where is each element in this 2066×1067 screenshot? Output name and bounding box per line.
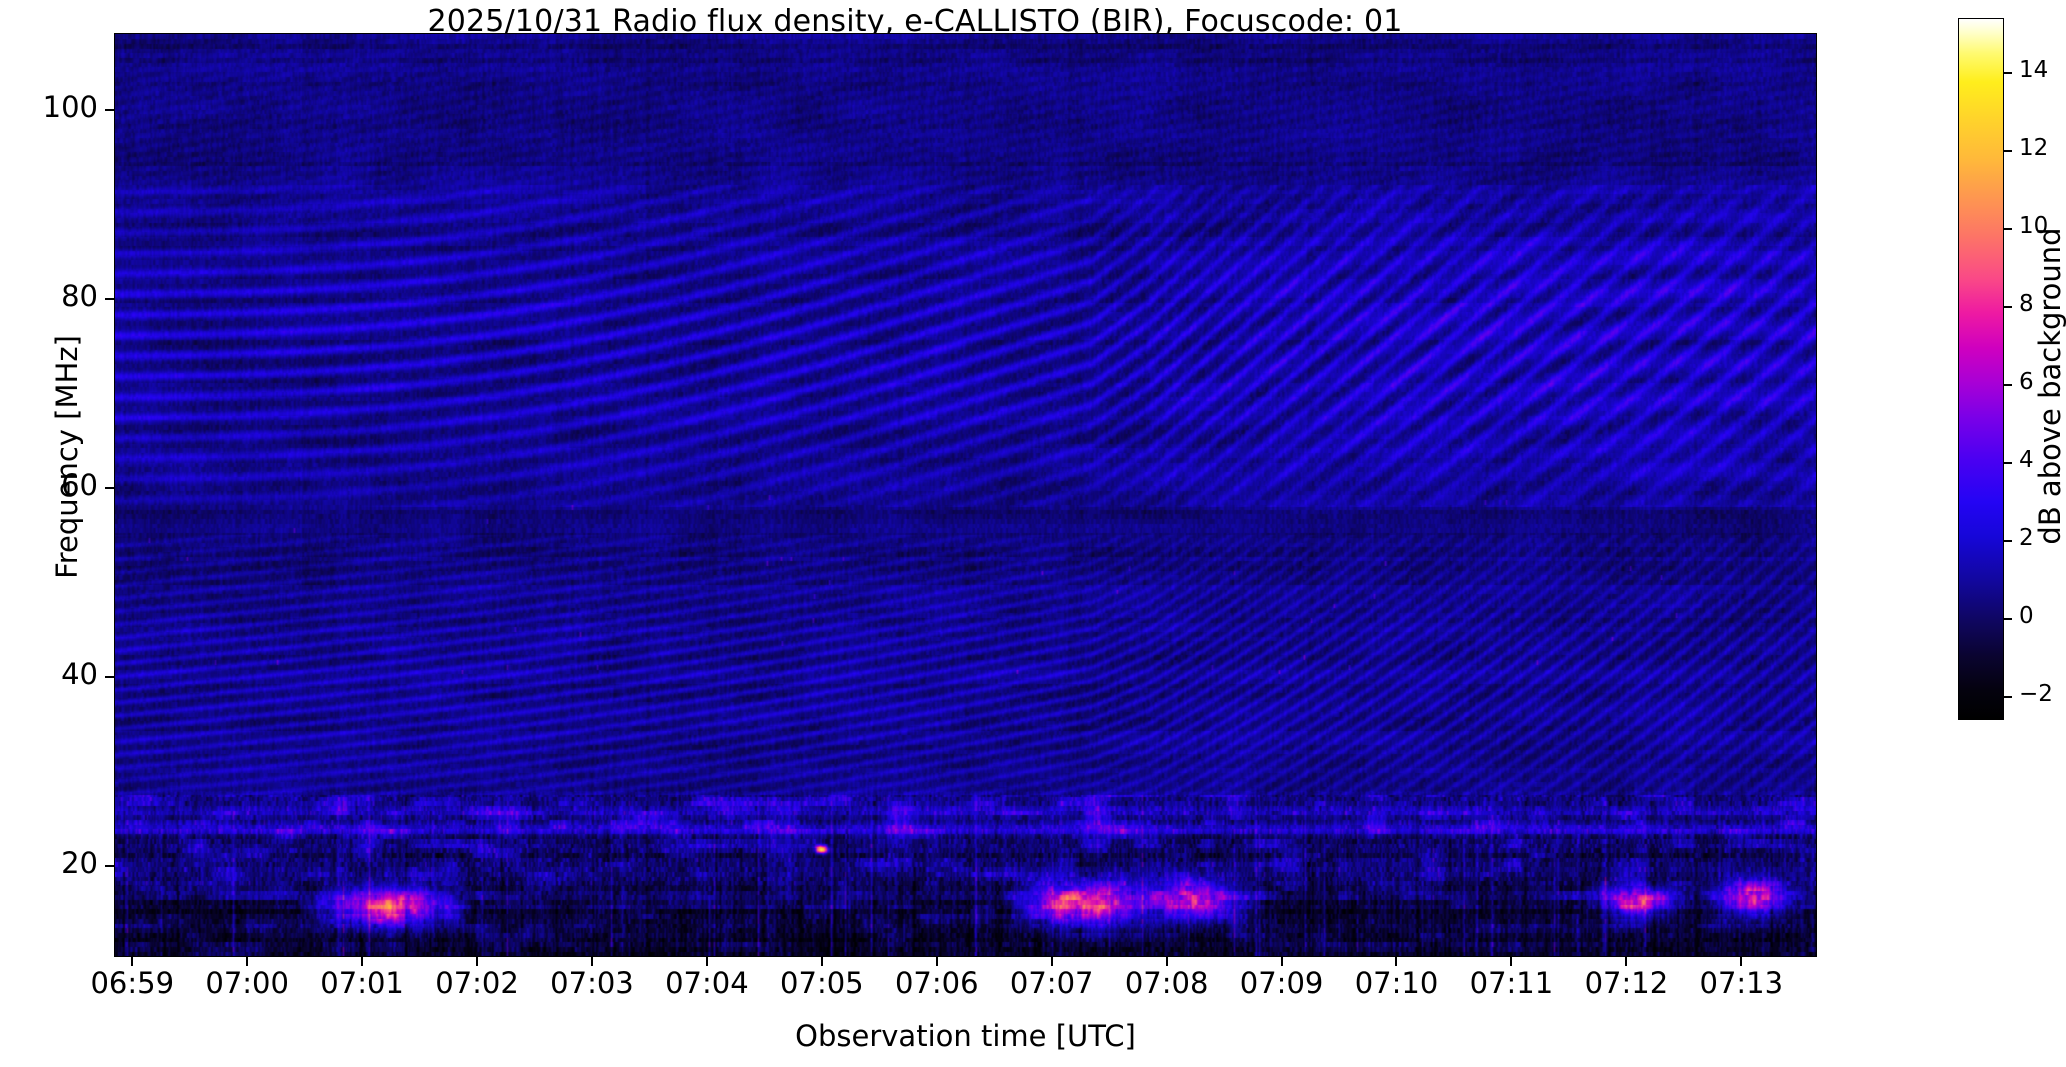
x-tick-mark <box>1625 957 1627 966</box>
x-tick-mark <box>1740 957 1742 966</box>
x-tick-mark <box>821 957 823 966</box>
x-tick-mark <box>936 957 938 966</box>
x-tick-label: 07:11 <box>1470 966 1554 1000</box>
colorbar-tick-mark <box>2004 462 2012 464</box>
x-tick-label: 07:08 <box>1125 966 1209 1000</box>
y-tick-mark <box>105 109 114 111</box>
x-tick-label: 07:10 <box>1355 966 1439 1000</box>
colorbar-tick-mark <box>2004 150 2012 152</box>
x-tick-mark <box>1051 957 1053 966</box>
colorbar-tick-label: 4 <box>2019 447 2034 473</box>
x-tick-mark <box>131 957 133 966</box>
spectrogram-plot-area[interactable] <box>114 33 1817 957</box>
spectrogram-canvas <box>115 34 1816 956</box>
x-tick-mark <box>1281 957 1283 966</box>
y-tick-mark <box>105 487 114 489</box>
colorbar-tick-mark <box>2004 228 2012 230</box>
colorbar-tick-mark <box>2004 306 2012 308</box>
colorbar-tick-mark <box>2004 540 2012 542</box>
colorbar-tick-label: 14 <box>2019 57 2048 83</box>
colorbar-tick-label: 10 <box>2019 213 2048 239</box>
x-tick-label: 07:06 <box>895 966 979 1000</box>
colorbar-tick-mark <box>2004 384 2012 386</box>
x-tick-mark <box>1395 957 1397 966</box>
colorbar-tick-label: 6 <box>2019 369 2034 395</box>
x-tick-label: 07:07 <box>1010 966 1094 1000</box>
x-tick-mark <box>361 957 363 966</box>
x-tick-label: 06:59 <box>90 966 174 1000</box>
x-tick-label: 07:12 <box>1585 966 1669 1000</box>
colorbar-tick-mark <box>2004 696 2012 698</box>
x-tick-mark <box>246 957 248 966</box>
x-tick-label: 07:01 <box>320 966 404 1000</box>
x-tick-label: 07:05 <box>780 966 864 1000</box>
y-tick-mark <box>105 865 114 867</box>
colorbar-tick-label: 8 <box>2019 291 2034 317</box>
y-tick-label: 100 <box>43 90 98 124</box>
y-tick-label: 40 <box>61 657 98 691</box>
colorbar-tick-mark <box>2004 618 2012 620</box>
spectrogram-figure: 2025/10/31 Radio flux density, e-CALLIST… <box>0 0 2066 1067</box>
x-tick-mark <box>1166 957 1168 966</box>
colorbar-tick-label: 2 <box>2019 525 2034 551</box>
x-tick-label: 07:02 <box>435 966 519 1000</box>
x-tick-label: 07:13 <box>1699 966 1783 1000</box>
x-tick-mark <box>1510 957 1512 966</box>
y-tick-label: 60 <box>61 468 98 502</box>
colorbar-tick-label: 12 <box>2019 135 2048 161</box>
x-tick-mark <box>706 957 708 966</box>
y-axis-label: Frequency [MHz] <box>50 57 84 857</box>
colorbar <box>1958 18 2004 720</box>
colorbar-tick-label: 0 <box>2019 603 2034 629</box>
x-tick-label: 07:00 <box>205 966 289 1000</box>
colorbar-tick-label: −2 <box>2019 681 2053 707</box>
x-tick-mark <box>476 957 478 966</box>
x-axis-label: Observation time [UTC] <box>114 1019 1817 1053</box>
x-tick-label: 07:04 <box>665 966 749 1000</box>
y-tick-label: 80 <box>61 279 98 313</box>
y-tick-mark <box>105 676 114 678</box>
y-tick-mark <box>105 298 114 300</box>
x-tick-label: 07:03 <box>550 966 634 1000</box>
y-tick-label: 20 <box>61 846 98 880</box>
x-tick-label: 07:09 <box>1240 966 1324 1000</box>
x-tick-mark <box>591 957 593 966</box>
colorbar-tick-mark <box>2004 72 2012 74</box>
